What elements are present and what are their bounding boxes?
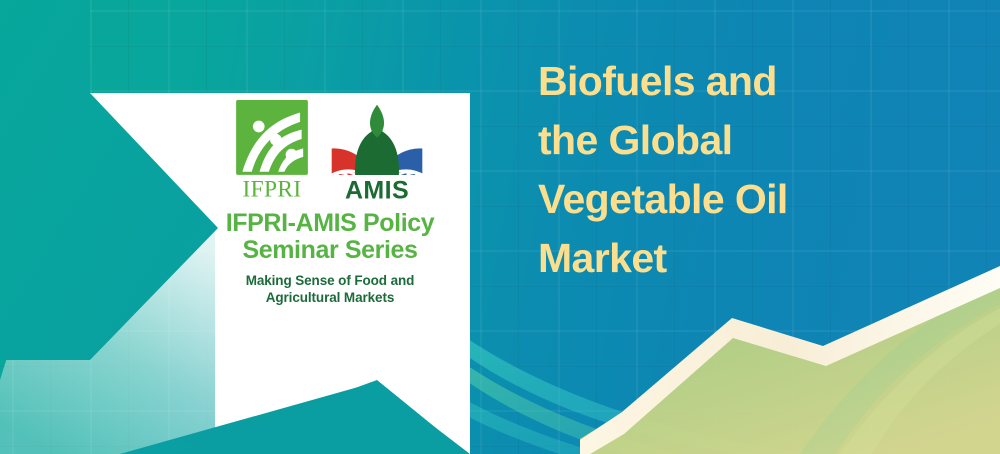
headline-line-3: Vegetable Oil <box>538 170 968 229</box>
series-tagline: Making Sense of Food and Agricultural Ma… <box>175 272 485 307</box>
rising-chart-icon <box>580 264 1000 454</box>
svg-text:IFPRI: IFPRI <box>242 177 301 200</box>
seminar-banner: IFPRI <box>0 0 1000 454</box>
headline-line-2: the Global <box>538 111 968 170</box>
logo-row: IFPRI <box>175 100 485 200</box>
brand-block: IFPRI <box>175 100 485 307</box>
headline-line-1: Biofuels and <box>538 52 968 111</box>
series-title-line2: Seminar Series <box>175 237 485 264</box>
series-tagline-line2: Agricultural Markets <box>175 289 485 306</box>
headline-line-4: Market <box>538 229 968 288</box>
page-title: Biofuels and the Global Vegetable Oil Ma… <box>538 52 968 288</box>
series-title: IFPRI-AMIS Policy Seminar Series <box>175 210 485 263</box>
ifpri-logo: IFPRI <box>233 100 311 200</box>
amis-logo: AMIS <box>327 100 427 200</box>
series-title-line1: IFPRI-AMIS Policy <box>226 209 435 237</box>
svg-text:AMIS: AMIS <box>345 176 409 200</box>
series-tagline-line1: Making Sense of Food and <box>246 273 415 288</box>
